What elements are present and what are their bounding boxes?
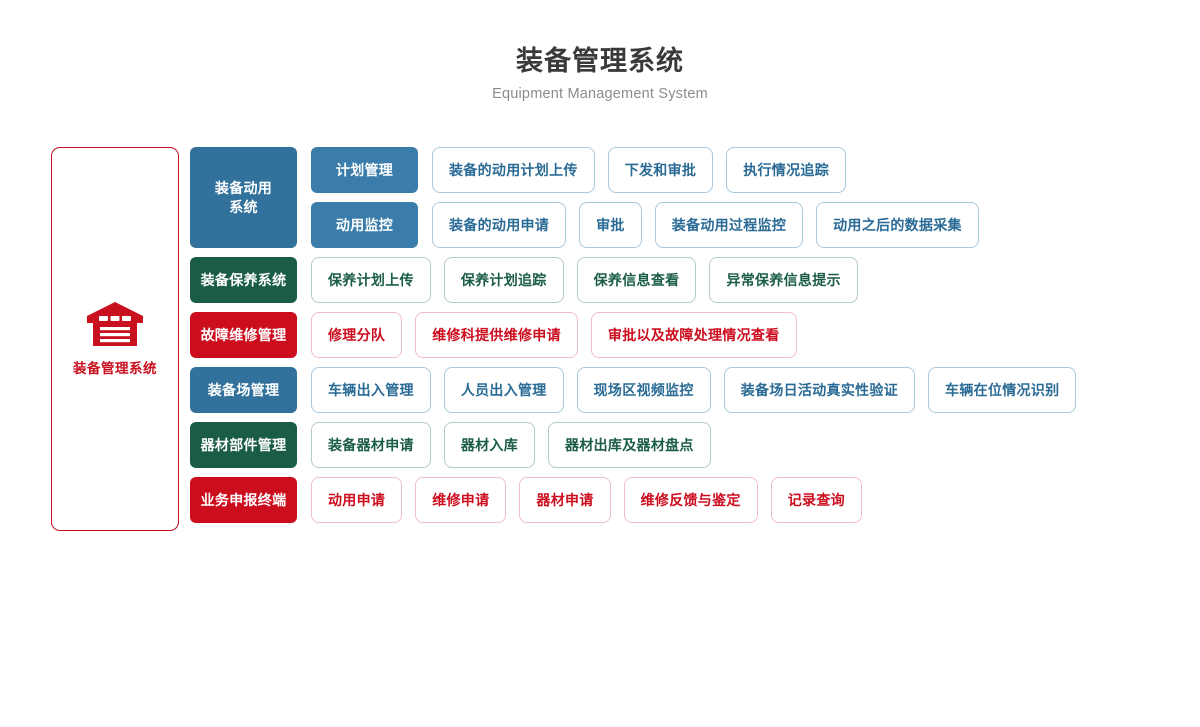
leaf-item[interactable]: 器材出库及器材盘点 [548,422,711,468]
leaf-item[interactable]: 人员出入管理 [444,367,564,413]
leaf-item[interactable]: 装备动用过程监控 [655,202,803,248]
page-subtitle: Equipment Management System [0,86,1200,102]
leaf-item[interactable]: 下发和审批 [608,147,714,193]
leaf-item[interactable]: 审批 [579,202,642,248]
page-title: 装备管理系统 [0,44,1200,79]
category-block-business-declaration[interactable]: 业务申报终端 [190,477,297,523]
leaf-item[interactable]: 动用之后的数据采集 [816,202,979,248]
page-header: 装备管理系统 Equipment Management System [0,0,1200,102]
leaf-item[interactable]: 记录查询 [771,477,862,523]
module-rows: 装备动用系统 计划管理 装备的动用计划上传 下发和审批 执行情况追踪 动用监控 … [190,147,1076,523]
leaf-list-depot-management: 车辆出入管理 人员出入管理 现场区视频监控 装备场日活动真实性验证 车辆在位情况… [311,367,1076,413]
warehouse-icon [86,301,144,347]
category-block-equipment-maintenance[interactable]: 装备保养系统 [190,257,297,303]
module-row-depot-management: 装备场管理 车辆出入管理 人员出入管理 现场区视频监控 装备场日活动真实性验证 … [190,367,1076,413]
leaf-item[interactable]: 器材入库 [444,422,535,468]
subgroup-deployment-monitoring: 动用监控 装备的动用申请 审批 装备动用过程监控 动用之后的数据采集 [311,202,979,248]
root-system-panel[interactable]: 装备管理系统 [51,147,179,531]
module-row-business-declaration: 业务申报终端 动用申请 维修申请 器材申请 维修反馈与鉴定 记录查询 [190,477,1076,523]
diagram-board: 装备管理系统 Equipment Management System 装备管理系… [0,0,1200,727]
leaf-list-parts-management: 装备器材申请 器材入库 器材出库及器材盘点 [311,422,711,468]
root-system-label: 装备管理系统 [73,357,157,377]
leaf-item[interactable]: 车辆在位情况识别 [928,367,1076,413]
leaf-item[interactable]: 执行情况追踪 [726,147,846,193]
subgroup-list: 计划管理 装备的动用计划上传 下发和审批 执行情况追踪 动用监控 装备的动用申请… [311,147,979,248]
leaf-item[interactable]: 器材申请 [519,477,610,523]
leaf-list-business-declaration: 动用申请 维修申请 器材申请 维修反馈与鉴定 记录查询 [311,477,862,523]
category-block-equipment-deployment[interactable]: 装备动用系统 [190,147,297,248]
leaf-item[interactable]: 保养计划上传 [311,257,431,303]
category-block-fault-repair[interactable]: 故障维修管理 [190,312,297,358]
module-row-fault-repair: 故障维修管理 修理分队 维修科提供维修申请 审批以及故障处理情况查看 [190,312,1076,358]
leaf-item[interactable]: 维修申请 [415,477,506,523]
subgroup-plan-management: 计划管理 装备的动用计划上传 下发和审批 执行情况追踪 [311,147,979,193]
leaf-item[interactable]: 维修科提供维修申请 [415,312,578,358]
leaf-list-deployment-monitoring: 装备的动用申请 审批 装备动用过程监控 动用之后的数据采集 [432,202,979,248]
subcategory-block-deployment-monitoring[interactable]: 动用监控 [311,202,418,248]
leaf-item[interactable]: 车辆出入管理 [311,367,431,413]
module-row-equipment-deployment: 装备动用系统 计划管理 装备的动用计划上传 下发和审批 执行情况追踪 动用监控 … [190,147,1076,248]
leaf-list-plan-management: 装备的动用计划上传 下发和审批 执行情况追踪 [432,147,846,193]
leaf-list-fault-repair: 修理分队 维修科提供维修申请 审批以及故障处理情况查看 [311,312,797,358]
category-block-parts-management[interactable]: 器材部件管理 [190,422,297,468]
leaf-item[interactable]: 装备场日活动真实性验证 [724,367,915,413]
module-row-equipment-maintenance: 装备保养系统 保养计划上传 保养计划追踪 保养信息查看 异常保养信息提示 [190,257,1076,303]
subcategory-block-plan-management[interactable]: 计划管理 [311,147,418,193]
category-label-line1: 装备动用 [215,180,272,196]
leaf-item[interactable]: 装备器材申请 [311,422,431,468]
category-block-depot-management[interactable]: 装备场管理 [190,367,297,413]
leaf-item[interactable]: 保养信息查看 [577,257,697,303]
leaf-item[interactable]: 审批以及故障处理情况查看 [591,312,797,358]
category-label-line2: 系统 [229,199,258,215]
leaf-item[interactable]: 装备的动用申请 [432,202,566,248]
leaf-list-equipment-maintenance: 保养计划上传 保养计划追踪 保养信息查看 异常保养信息提示 [311,257,858,303]
leaf-item[interactable]: 维修反馈与鉴定 [624,477,758,523]
leaf-item[interactable]: 保养计划追踪 [444,257,564,303]
module-row-parts-management: 器材部件管理 装备器材申请 器材入库 器材出库及器材盘点 [190,422,1076,468]
leaf-item[interactable]: 动用申请 [311,477,402,523]
leaf-item[interactable]: 装备的动用计划上传 [432,147,595,193]
leaf-item[interactable]: 现场区视频监控 [577,367,711,413]
leaf-item[interactable]: 异常保养信息提示 [709,257,857,303]
leaf-item[interactable]: 修理分队 [311,312,402,358]
